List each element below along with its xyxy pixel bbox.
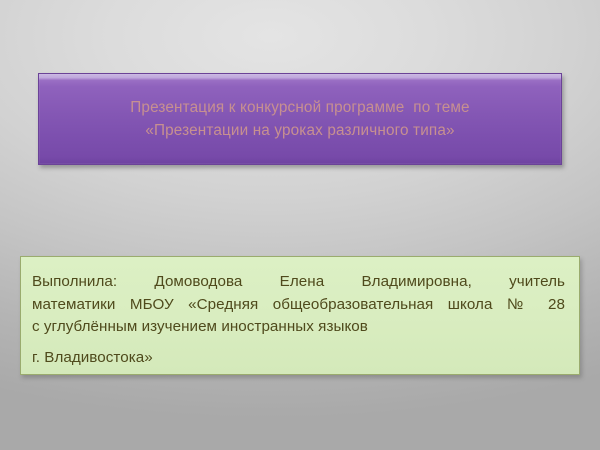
author-line-2: математики МБОУ «Средняя общеобразовател… xyxy=(32,294,565,317)
title-line-2: «Презентации на уроках различного типа» xyxy=(145,119,454,142)
author-text-box[interactable]: Выполнила: Домоводова Елена Владимировна… xyxy=(20,256,580,375)
author-line-3: с углублённым изучением иностранных язык… xyxy=(32,316,565,339)
presentation-slide: Презентация к конкурсной программе по те… xyxy=(0,0,600,450)
title-line-1: Презентация к конкурсной программе по те… xyxy=(130,96,469,119)
title-text-box[interactable]: Презентация к конкурсной программе по те… xyxy=(38,73,562,165)
author-line-1: Выполнила: Домоводова Елена Владимировна… xyxy=(32,271,565,294)
author-line-4: г. Владивостока» xyxy=(32,347,565,370)
